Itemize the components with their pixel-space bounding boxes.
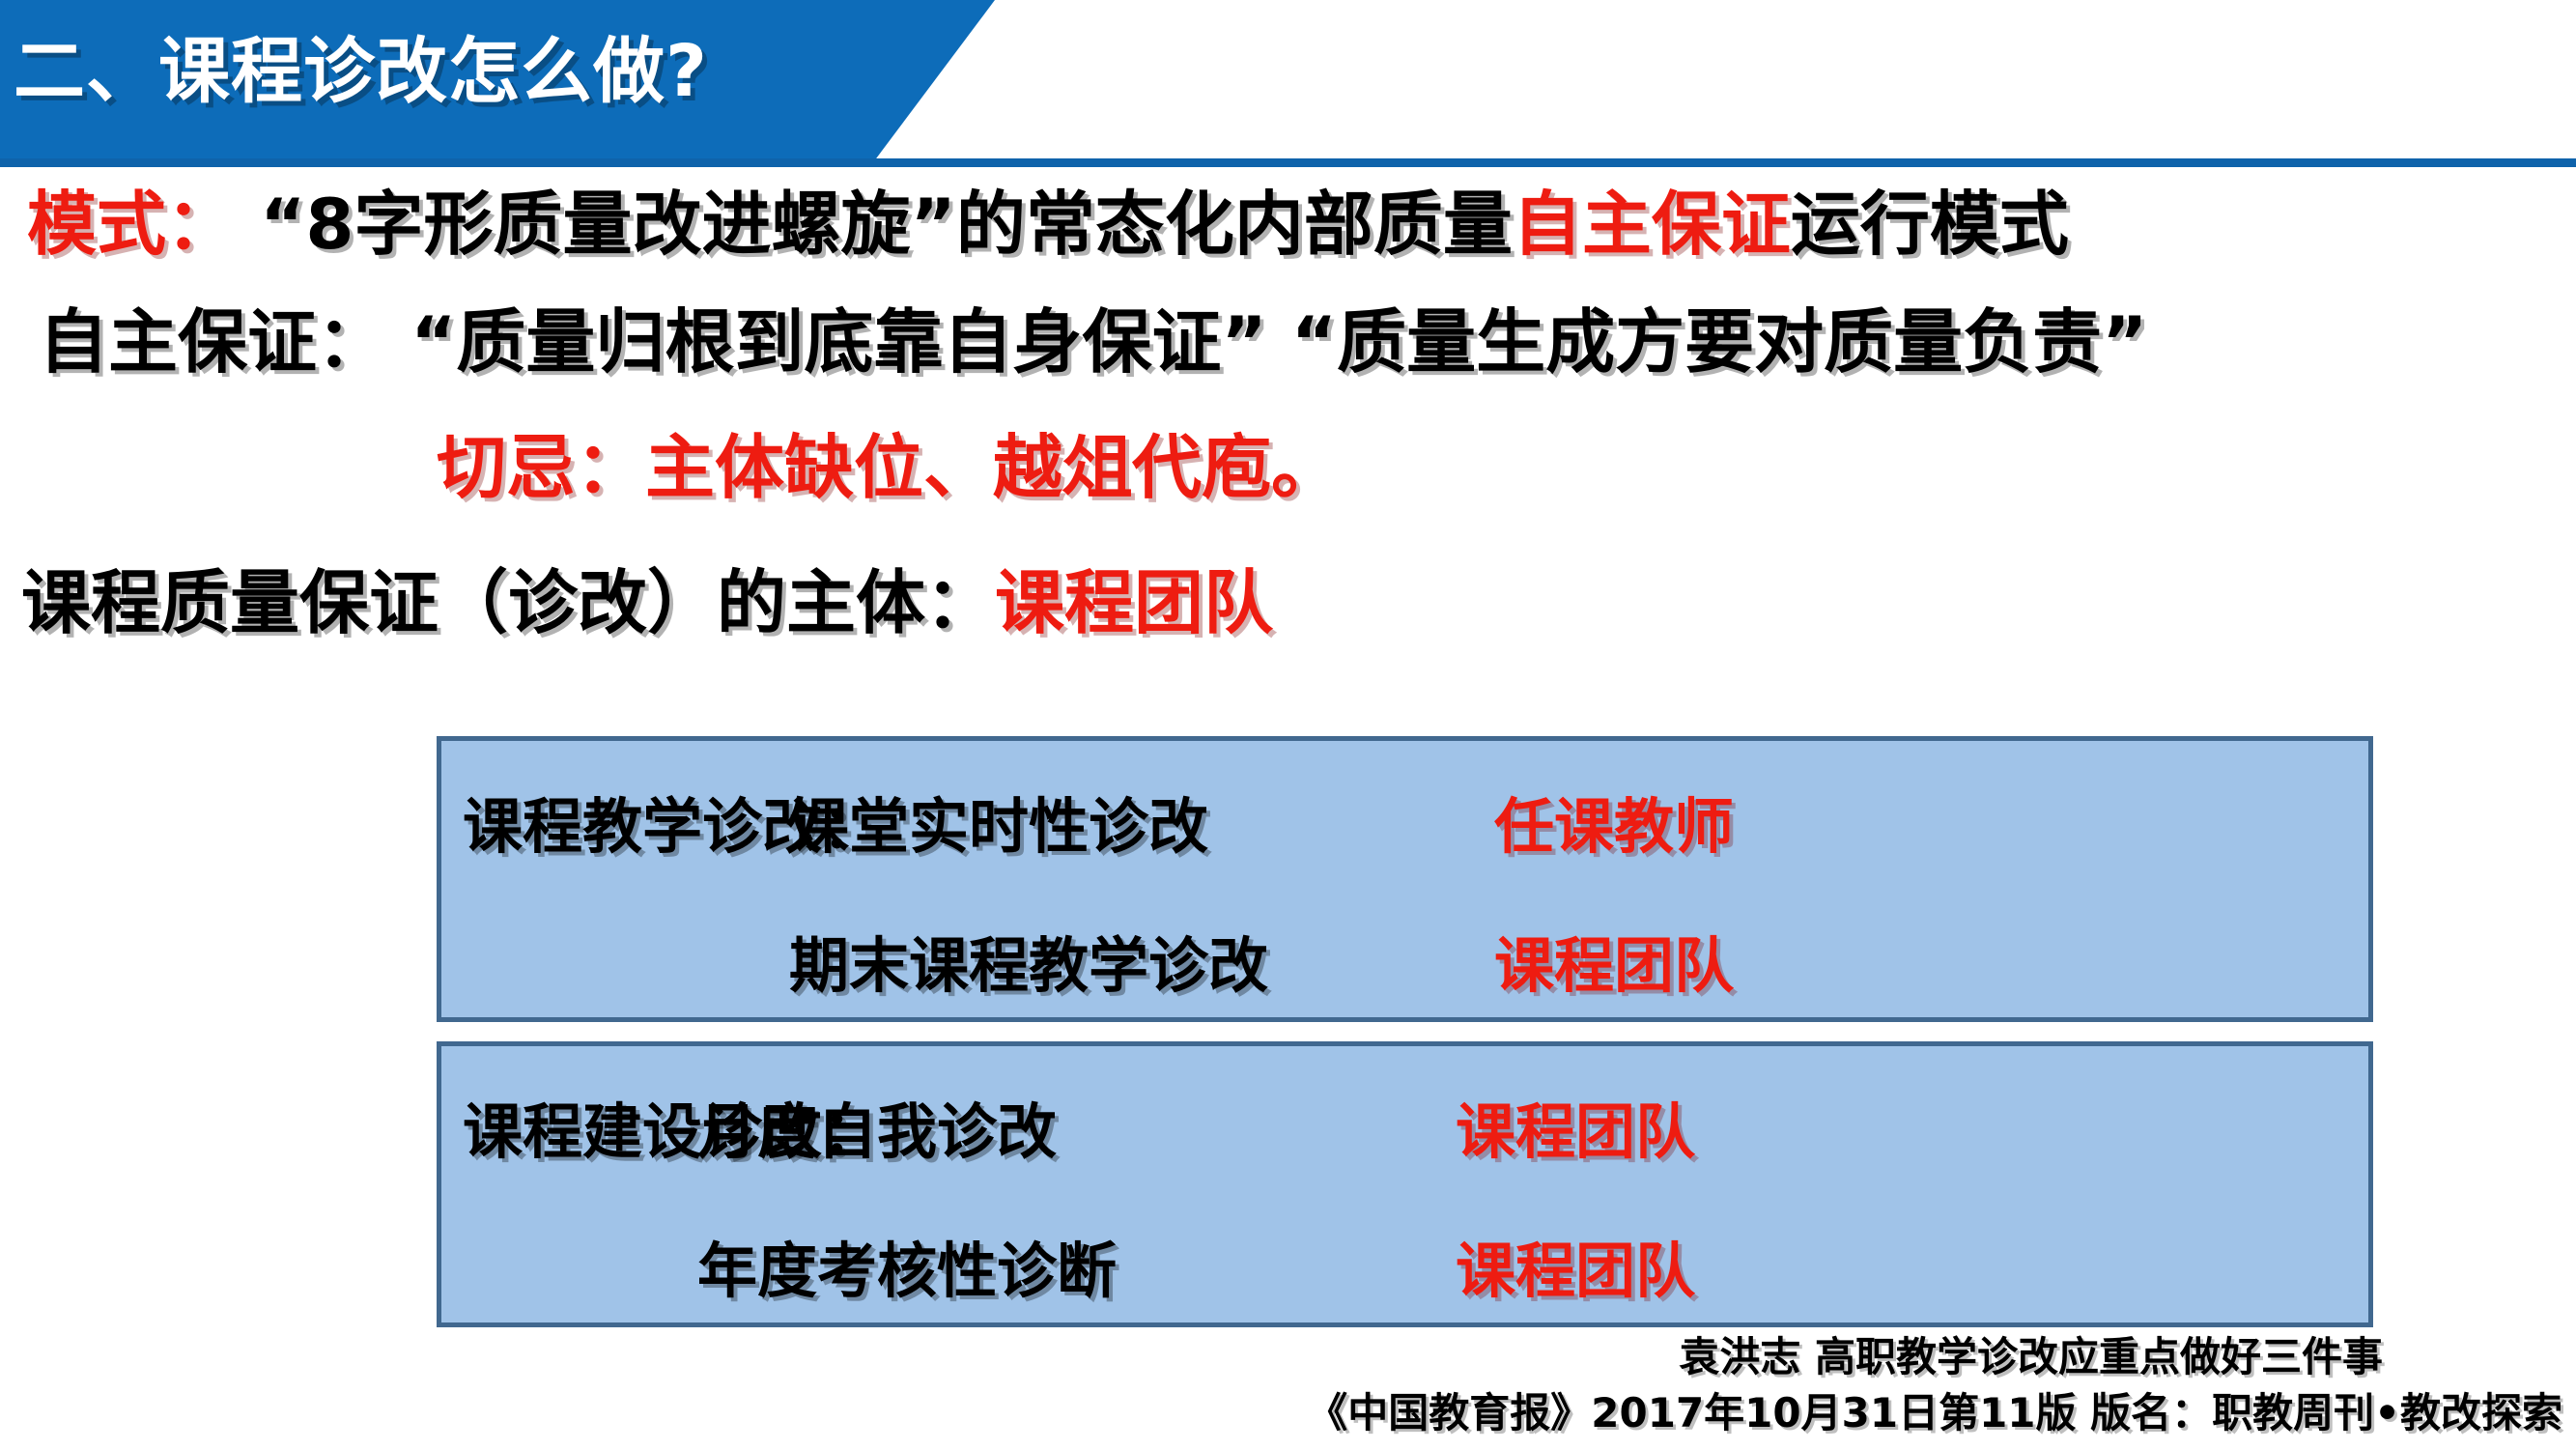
mode-text-after: 运行模式 <box>1791 184 2069 265</box>
box1-row2-actor: 课程团队 <box>1494 936 1734 996</box>
subject-text-before: 课程质量保证（诊改）的主体： <box>21 562 995 643</box>
mode-highlight: 自主保证 <box>1513 184 1791 265</box>
mode-text-before: “8字形质量改进螺旋”的常态化内部质量 <box>236 184 1513 265</box>
subject-statement-line: 课程质量保证（诊改）的主体：课程团队 <box>21 568 1273 638</box>
page-title: 二、课程诊改怎么做? <box>14 14 708 117</box>
box1-row2-item: 期末课程教学诊改 <box>789 936 1268 996</box>
box2-row2-actor: 课程团队 <box>1456 1241 1695 1301</box>
box1-row1-actor: 任课教师 <box>1494 797 1734 857</box>
course-teaching-diagnosis-box: 课程教学诊改： 课堂实时性诊改 任课教师 期末课程教学诊改 课程团队 <box>437 736 2373 1022</box>
self-assurance-line: 自主保证： “质量归根到底靠自身保证” “质量生成方要对质量负责” <box>39 307 2147 377</box>
mode-statement-line: 模式： “8字形质量改进螺旋”的常态化内部质量自主保证运行模式 <box>27 189 2069 259</box>
box2-row1-actor: 课程团队 <box>1456 1102 1695 1162</box>
course-construction-diagnosis-box: 课程建设诊改： 月度自我诊改 课程团队 年度考核性诊断 课程团队 <box>437 1041 2373 1327</box>
footer-source-attribution: 袁洪志 高职教学诊改应重点做好三件事 <box>1679 1337 2383 1378</box>
avoid-warning-line: 切忌：主体缺位、越俎代庖。 <box>437 433 1341 502</box>
box2-row2-item: 年度考核性诊断 <box>697 1241 1117 1301</box>
mode-label: 模式： <box>27 184 236 265</box>
header-divider-rule <box>0 158 2576 167</box>
assure-quote-one: “质量归根到底靠自身保证” <box>386 301 1267 383</box>
footer-citation: 《中国教育报》2017年10月31日第11版 版名：职教周刊•教改探索 <box>1307 1393 2562 1434</box>
box1-row1-item: 课堂实时性诊改 <box>789 797 1208 857</box>
assure-label: 自主保证： <box>39 301 386 383</box>
subject-highlight: 课程团队 <box>995 562 1273 643</box>
assure-quote-two: “质量生成方要对质量负责” <box>1267 301 2148 383</box>
box2-row1-item: 月度自我诊改 <box>697 1102 1057 1162</box>
